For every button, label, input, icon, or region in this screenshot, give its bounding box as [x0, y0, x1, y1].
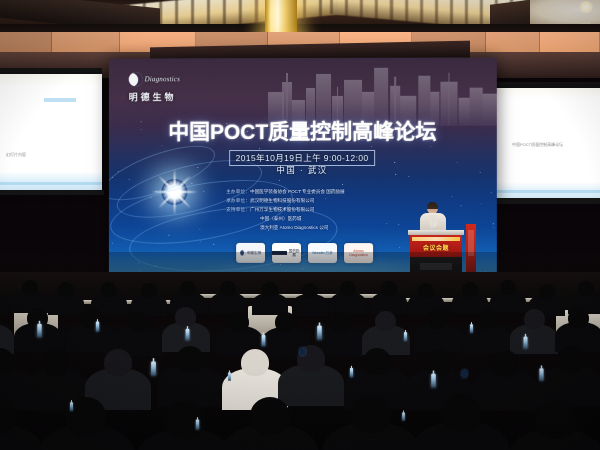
- credit-label: 承办单位：: [226, 198, 250, 203]
- credit-value: 武汉明德生物科技股份有限公司: [250, 198, 314, 203]
- star-speck: [213, 244, 214, 245]
- star-speck: [112, 242, 113, 243]
- credit-label: 支持单位：: [226, 207, 250, 212]
- audience-head: [241, 349, 269, 376]
- audience-head: [557, 346, 585, 373]
- star-speck: [481, 203, 482, 204]
- audience-area: [0, 252, 600, 450]
- audience-head: [180, 281, 196, 296]
- credit-label: 主办单位：: [226, 189, 250, 194]
- star-speck: [155, 191, 156, 192]
- left-screen-header-bar: [44, 98, 76, 102]
- audience-head: [262, 282, 278, 297]
- star-speck: [112, 177, 113, 178]
- ceiling: [0, 0, 600, 34]
- left-screen-footer-bar: [0, 182, 102, 185]
- star-speck: [342, 184, 343, 185]
- water-bottle-icon: [37, 324, 41, 337]
- audience-head: [539, 284, 555, 299]
- star-speck: [399, 247, 400, 248]
- water-bottle-icon: [317, 326, 322, 340]
- audience-head: [462, 282, 478, 297]
- water-bottle-icon: [404, 332, 407, 341]
- podium-banner-text: 会议会题: [410, 243, 462, 252]
- water-bottle-icon: [151, 361, 156, 375]
- podium-banner-strip: [412, 237, 460, 241]
- credit-value: 中国医学装备协会 POCT 专业委员会 国药励展: [250, 189, 345, 194]
- audience-head: [425, 349, 453, 376]
- right-screen-text: 中国POCT质量控制高峰论坛: [512, 142, 563, 148]
- audience-head: [536, 401, 576, 439]
- water-bottle-icon: [350, 368, 353, 377]
- audience-head: [340, 281, 356, 296]
- audience-head: [58, 282, 74, 297]
- audience-head: [329, 311, 350, 331]
- star-speck: [192, 183, 193, 184]
- water-bottle-icon: [402, 412, 405, 420]
- audience-head: [351, 395, 391, 433]
- star-speck: [199, 229, 200, 230]
- star-speck: [279, 180, 280, 181]
- audience-head: [228, 312, 249, 332]
- water-bottle-icon: [196, 419, 199, 429]
- audience-head: [381, 281, 397, 296]
- audience-head: [176, 346, 204, 373]
- star-speck: [182, 187, 183, 188]
- audience-head: [477, 309, 498, 329]
- audience-head: [441, 394, 481, 432]
- audience-head: [302, 283, 318, 298]
- audience-head: [418, 283, 434, 298]
- audience-head: [524, 309, 545, 329]
- audience-head: [250, 397, 290, 435]
- water-bottle-icon: [470, 324, 473, 333]
- event-location: 中国 · 武汉: [109, 164, 497, 176]
- audience-head: [104, 349, 132, 376]
- credit-value: 广州万孚生物技术股份有限公司: [250, 207, 314, 212]
- water-bottle-icon: [186, 329, 190, 341]
- audience-head: [491, 350, 519, 377]
- audience-head: [128, 312, 149, 332]
- water-bottle-icon: [523, 336, 527, 348]
- ceiling-spotlight-icon: [578, 1, 594, 13]
- audience-head: [363, 348, 391, 375]
- audience-head: [42, 349, 70, 376]
- star-speck: [493, 223, 494, 224]
- smartphone-icon: [462, 370, 467, 377]
- audience-head: [275, 312, 296, 332]
- audience-head: [101, 282, 117, 297]
- water-bottle-icon: [70, 402, 73, 411]
- water-bottle-icon: [431, 374, 436, 388]
- audience-head: [22, 280, 38, 295]
- water-bottle-icon: [96, 321, 99, 331]
- star-speck: [151, 197, 152, 198]
- conference-photo: 幻灯片内容 中国POCT质量控制高峰论坛 Diagnostics 明德生物 中国…: [0, 0, 600, 450]
- star-speck: [408, 176, 409, 177]
- audience-head: [220, 281, 236, 296]
- audience-head: [568, 308, 589, 328]
- event-title: 中国POCT质量控制高峰论坛: [109, 116, 497, 146]
- audience-head: [500, 280, 516, 295]
- star-speck: [203, 191, 204, 192]
- right-screen-frame-bottom: [490, 198, 600, 204]
- water-bottle-icon: [539, 368, 543, 381]
- left-screen-frame-bottom: [0, 190, 104, 195]
- star-speck: [168, 234, 169, 235]
- star-speck: [200, 240, 201, 241]
- water-bottle-icon: [262, 335, 266, 346]
- water-bottle-icon: [228, 372, 231, 380]
- star-speck: [493, 227, 494, 228]
- right-screen-footer-bar: [492, 190, 600, 193]
- audience-head: [141, 283, 157, 298]
- credit-value: 中国（泰州）医药城: [260, 216, 301, 221]
- audience-head: [175, 307, 196, 327]
- credit-value: 澳大利亚 Atomo Diagnostics 公司: [260, 225, 328, 230]
- brand-english-name: Diagnostics: [145, 75, 180, 83]
- left-screen-text: 幻灯片内容: [6, 152, 26, 158]
- brand-chinese-name: 明德生物: [129, 90, 206, 103]
- audience-head: [578, 281, 594, 296]
- left-projection-screen: [0, 74, 102, 190]
- mingde-brand-logo: Diagnostics 明德生物: [129, 70, 206, 103]
- audience-head: [375, 311, 396, 331]
- star-speck: [491, 192, 492, 193]
- crescent-moon-icon: [129, 72, 143, 86]
- star-speck: [129, 179, 130, 180]
- smartphone-icon: [300, 348, 305, 355]
- audience-head: [427, 309, 448, 329]
